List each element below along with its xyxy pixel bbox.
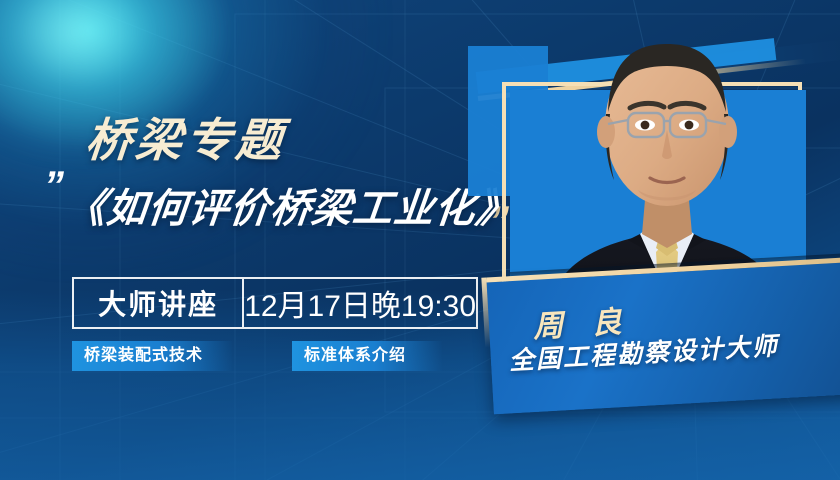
nameplate-gold-side [481, 277, 490, 347]
lecture-series-label: 大师讲座 [74, 279, 242, 327]
lecture-promo-poster: ” ” 桥梁专题 《如何评价桥梁工业化》 大师讲座 12月17日晚19:30 桥… [0, 0, 840, 480]
speaker-composition: 周 良 全国工程勘察设计大师 [480, 0, 840, 480]
lecture-datetime: 12月17日晚19:30 [244, 279, 476, 327]
topic-heading: 桥梁专题 [83, 104, 289, 170]
topic-tag-list: 桥梁装配式技术 标准体系介绍 [72, 341, 442, 371]
lecture-title: 《如何评价桥梁工业化》 [63, 176, 520, 234]
topic-tag-2: 标准体系介绍 [292, 341, 442, 371]
topic-tag-1: 桥梁装配式技术 [72, 341, 232, 371]
quote-open-mark: ” [44, 166, 64, 206]
lecture-info-box: 大师讲座 12月17日晚19:30 [72, 277, 478, 329]
speaker-nameplate: 周 良 全国工程勘察设计大师 [487, 262, 840, 415]
